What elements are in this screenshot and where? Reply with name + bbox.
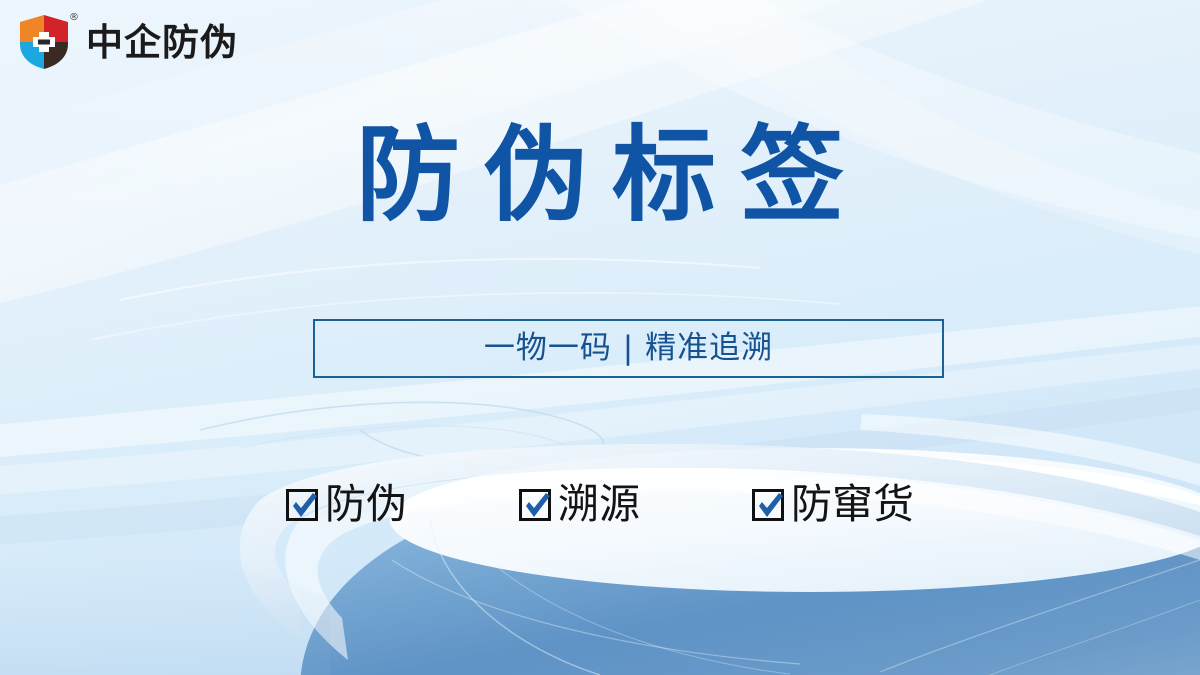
feature-label: 防窜货 [791, 484, 914, 525]
checkbox-checked-icon[interactable] [519, 489, 551, 521]
hero-title-wrap: 防伪标签 [0, 118, 1200, 232]
feature-item[interactable]: 防伪 [286, 484, 407, 525]
promo-banner: ® 中企防伪 防伪标签 一物一码 | 精准追溯 防伪 溯源 [0, 0, 1200, 675]
hero-subtitle: 一物一码 | 精准追溯 [484, 333, 773, 364]
feature-label: 溯源 [558, 484, 640, 525]
shield-logo-icon: ® [18, 14, 70, 70]
brand-name: 中企防伪 [80, 24, 238, 61]
checkbox-checked-icon[interactable] [286, 489, 318, 521]
brand-logo[interactable]: ® 中企防伪 [18, 14, 238, 70]
feature-label: 防伪 [325, 484, 407, 525]
feature-item[interactable]: 防窜货 [752, 484, 914, 525]
feature-list: 防伪 溯源 防窜货 [0, 484, 1200, 525]
page-title: 防伪标签 [332, 118, 868, 232]
subtitle-box: 一物一码 | 精准追溯 [313, 319, 944, 378]
registered-trademark-icon: ® [69, 13, 79, 23]
checkbox-checked-icon[interactable] [752, 489, 784, 521]
feature-item[interactable]: 溯源 [519, 484, 640, 525]
